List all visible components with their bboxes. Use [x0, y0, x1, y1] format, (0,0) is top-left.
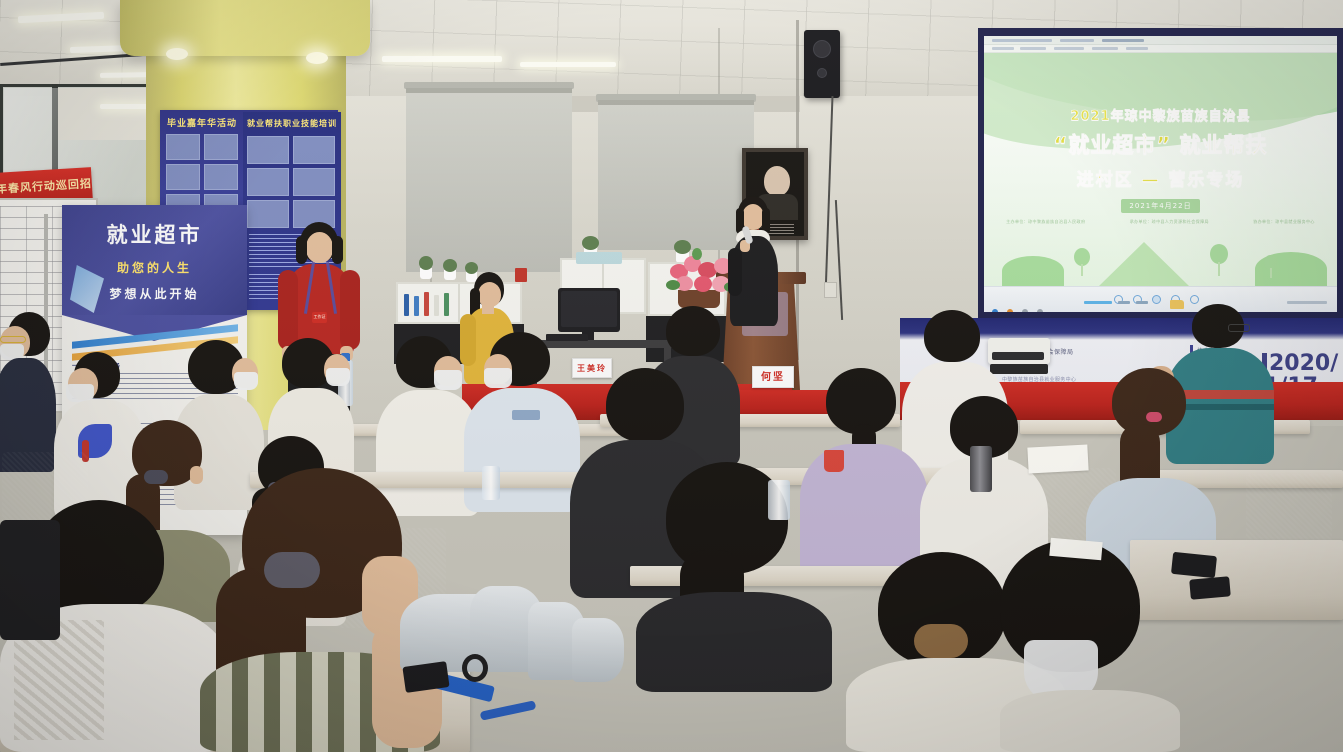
- plant-foliage: [582, 236, 599, 250]
- staff-face: [306, 232, 333, 263]
- slide-hill-left: [1002, 256, 1064, 286]
- flower-leaf: [692, 248, 702, 260]
- plant-foliage: [674, 240, 691, 254]
- smartphone-on-desk-3: [1189, 576, 1231, 599]
- slide-hill-center: [1099, 242, 1189, 286]
- plant-foliage: [443, 259, 457, 272]
- notebook-open: [1027, 444, 1088, 473]
- audience-hair: [666, 306, 720, 356]
- poster-thumb: [293, 136, 335, 164]
- hair-tie: [1146, 412, 1162, 422]
- poster-thumb: [247, 168, 289, 196]
- portrait-face: [764, 166, 790, 196]
- eyeglasses: [1228, 324, 1250, 332]
- audience-member-foreground: [1000, 540, 1200, 752]
- slide-caption-left: 主办单位：琼中黎族苗族自治县人民政府: [1006, 219, 1085, 225]
- presenter-arm: [728, 248, 742, 296]
- pen-blue: [480, 700, 537, 720]
- book: [404, 294, 409, 316]
- umbrella-strap: [462, 654, 488, 682]
- slide-tree-trunk-1: [1081, 264, 1083, 276]
- desktop-monitor: [558, 288, 620, 332]
- banner-title: 就业超市: [62, 205, 247, 249]
- wall-socket: [824, 282, 837, 298]
- face-mask: [234, 372, 258, 390]
- taskbar-window-button-2[interactable]: [1118, 301, 1130, 304]
- poster1-title: 毕业嘉年华活动: [164, 116, 240, 129]
- projection-screen: 2021年琼中黎族苗族自治县 “就业超市” 就业帮扶 进村区 — 营乐专场 20…: [984, 36, 1337, 312]
- titlebar-ui-strip: [1102, 39, 1144, 42]
- staff-hair-left: [296, 236, 307, 264]
- hair-scrunchie: [264, 552, 320, 588]
- yellow-staff-neck: [482, 304, 494, 314]
- book: [434, 295, 439, 316]
- audience-hair: [924, 310, 980, 362]
- poster-thumb: [247, 136, 289, 164]
- book: [424, 292, 429, 316]
- poster-thumb: [293, 168, 335, 196]
- menubar-item: [1020, 47, 1046, 50]
- titlebar-ui-strip: [1060, 39, 1094, 42]
- hair-scrunchie: [914, 624, 968, 658]
- app-icon-grey[interactable]: [1022, 309, 1028, 312]
- slide-caption-right: 协办单位：琼中县就业服务中心: [1253, 219, 1315, 225]
- staff-id-badge: 工作证: [312, 312, 327, 323]
- presentation-slide: 2021年琼中黎族苗族自治县 “就业超市” 就业帮扶 进村区 — 营乐专场 20…: [984, 53, 1337, 286]
- pillar-downlight: [166, 48, 188, 60]
- speaker-cone: [813, 40, 831, 58]
- audience-member-foreground: [636, 462, 836, 692]
- ceiling-light-4: [382, 56, 502, 62]
- more-options-icon[interactable]: [1190, 295, 1199, 304]
- poster-thumb: [166, 164, 200, 190]
- projection-screen-frame: 2021年琼中黎族苗族自治县 “就业超市” 就业帮扶 进村区 — 营乐专场 20…: [978, 28, 1343, 320]
- poster-thumb: [204, 164, 238, 190]
- plant-pot-1: [420, 268, 432, 279]
- slide-taskbar: [984, 286, 1337, 312]
- audience-dark-top: [636, 592, 832, 692]
- slide-captions: 主办单位：琼中黎族苗族自治县人民政府 承办单位：琼中县人力资源和社会保障局 协办…: [984, 219, 1337, 225]
- book: [444, 293, 449, 316]
- menubar-item: [1054, 47, 1084, 50]
- book: [414, 296, 419, 316]
- slide-app-titlebar: [984, 36, 1337, 45]
- slide-tree-trunk-2: [1218, 262, 1220, 276]
- flower-leaf: [666, 280, 680, 290]
- slide-app-menubar: [984, 45, 1337, 53]
- speaker-tweeter: [817, 68, 827, 78]
- hair-scrunchie: [144, 470, 168, 484]
- monitor-screen: [561, 291, 617, 327]
- menubar-item: [992, 47, 1014, 50]
- umbrella-panel: [572, 618, 624, 682]
- books-row: [404, 292, 449, 320]
- wall-speaker: [804, 30, 840, 98]
- slide-tree-trunk-3: [1270, 268, 1272, 278]
- audience-hair: [606, 368, 684, 442]
- taskbar-window-button-3[interactable]: [1136, 301, 1148, 304]
- water-bottle-desk-1: [768, 480, 790, 520]
- ceiling-light-5: [520, 62, 616, 67]
- thermos-cup: [970, 446, 992, 492]
- slide-line-3: 进村区 — 营乐专场: [984, 165, 1337, 190]
- staff-badge-text: 工作证: [312, 312, 327, 322]
- poster-thumb: [166, 134, 200, 160]
- slide-line-1: 2021年琼中黎族苗族自治县: [984, 105, 1337, 124]
- staff-hair-right: [332, 236, 343, 264]
- plant-foliage: [419, 256, 433, 270]
- foreground-chair-left: [0, 520, 60, 640]
- pillar-cap: [120, 0, 370, 56]
- audience-torso: [1000, 690, 1180, 752]
- taskbar-window-button[interactable]: [1084, 301, 1112, 304]
- slide-tree-2: [1210, 244, 1228, 264]
- water-bottle-desk-2: [482, 466, 500, 500]
- app-icon-grey-2[interactable]: [1037, 309, 1043, 312]
- slide-title-block: 2021年琼中黎族苗族自治县 “就业超市” 就业帮扶 进村区 — 营乐专场 20…: [984, 105, 1337, 213]
- watermark-line1: 2020/: [1269, 351, 1338, 376]
- cup-red: [824, 450, 844, 472]
- plant-pot-2: [444, 270, 456, 280]
- flower-petal: [694, 276, 712, 292]
- face-mask: [484, 368, 512, 388]
- shirt-logo: [512, 410, 540, 420]
- poster2-title: 就业帮扶职业技能培训: [245, 118, 339, 129]
- storage-box-blue: [576, 252, 622, 264]
- slide-date-badge: 2021年4月22日: [1121, 199, 1199, 213]
- placard-podium: 何坚: [752, 366, 794, 388]
- roller-blind-left: [406, 88, 572, 272]
- system-tray[interactable]: [1287, 301, 1327, 304]
- menubar-item: [1092, 47, 1118, 50]
- menubar-item: [1126, 47, 1148, 50]
- titlebar-ui-strip: [992, 39, 1052, 42]
- pillar-downlight-2: [306, 52, 328, 64]
- slide-line-2: “就业超市” 就业帮扶: [984, 129, 1337, 159]
- poster-thumb: [204, 134, 238, 160]
- eyeglasses: [0, 336, 26, 343]
- placard-podium-name: 何坚: [753, 367, 793, 389]
- smartphone-on-desk-2: [1171, 552, 1217, 578]
- slide-caption-mid: 承办单位：琼中县人力资源和社会保障局: [1130, 219, 1209, 225]
- face-mask: [326, 368, 350, 386]
- face-mask: [434, 370, 462, 390]
- photo-scene: 毕业嘉年华活动 就业帮扶职业技能培训 年春风行动巡回招聘会 就业超市 助您的人生…: [0, 0, 1343, 752]
- pen-icon[interactable]: [1152, 295, 1161, 304]
